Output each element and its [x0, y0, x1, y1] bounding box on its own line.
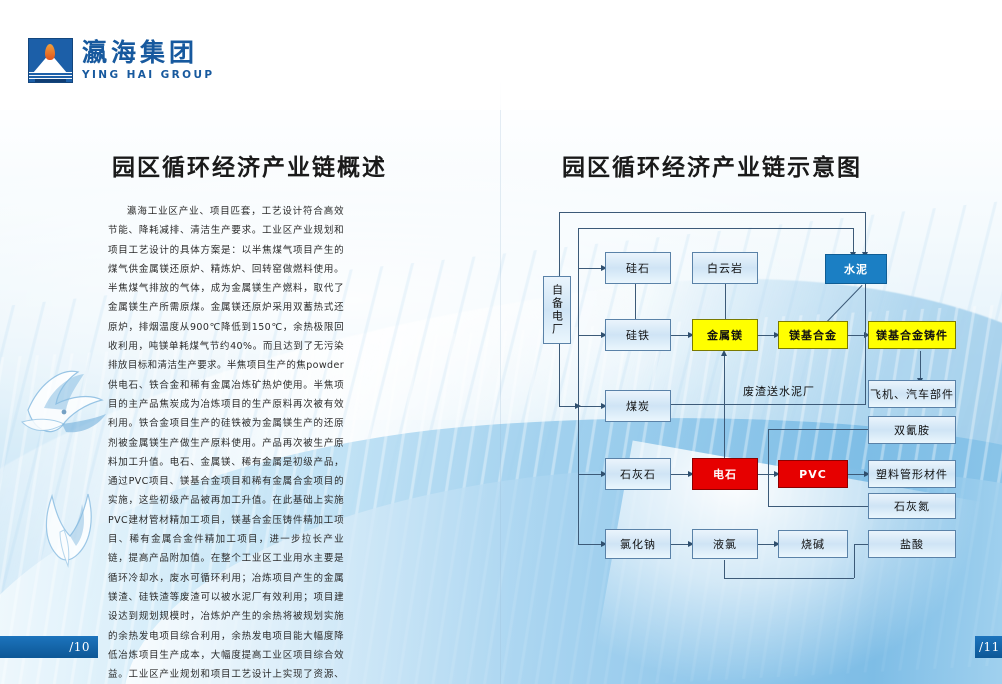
node-label: 硅石 — [626, 260, 650, 276]
node-dolomite[interactable]: 白云岩 — [692, 252, 758, 284]
node-mg-alloy-casting[interactable]: 镁基合金铸件 — [868, 321, 956, 349]
connector — [920, 351, 921, 380]
connector — [854, 544, 855, 578]
page-number-right: /11 — [979, 640, 1000, 654]
mountain-flame-logo-icon — [28, 38, 73, 83]
dove-icon-lower — [22, 470, 118, 578]
connector — [578, 228, 853, 229]
dove-icon-upper — [6, 352, 124, 450]
node-label: 镁基合金铸件 — [876, 327, 948, 343]
logo-name-cn: 瀛海集团 — [82, 40, 215, 65]
node-silica[interactable]: 硅石 — [605, 252, 671, 284]
node-power-plant[interactable]: 自备电厂 — [543, 276, 571, 344]
connector — [865, 284, 866, 404]
node-label: PVC — [799, 468, 827, 481]
connector — [853, 228, 854, 254]
label-waste-slag-to-cement: 废渣送水泥厂 — [743, 383, 815, 399]
node-label: 白云岩 — [707, 260, 743, 276]
connector — [724, 560, 725, 578]
node-calcium-cyanamide[interactable]: 石灰氮 — [868, 493, 956, 519]
logo-name-en: YING HAI GROUP — [82, 70, 215, 81]
left-page-body: 瀛海工业区产业、项目匹套，工艺设计符合高效节能、降耗减排、清洁生产要求。工业区产… — [108, 202, 344, 684]
connector — [724, 356, 725, 404]
node-limestone[interactable]: 石灰石 — [605, 458, 671, 490]
node-label: 塑料管形材件 — [876, 466, 948, 482]
connector — [670, 404, 866, 405]
connector — [825, 285, 863, 324]
page-number-bar-left: /10 — [0, 636, 98, 658]
node-label: 盐酸 — [900, 536, 924, 552]
node-label: 双氰胺 — [894, 422, 930, 438]
connector — [865, 212, 866, 254]
node-label: 金属镁 — [707, 327, 743, 343]
node-aircraft-auto-parts[interactable]: 飞机、汽车部件 — [868, 380, 956, 408]
connector — [768, 429, 868, 430]
body-paragraph: 瀛海工业区产业、项目匹套，工艺设计符合高效节能、降耗减排、清洁生产要求。工业区产… — [108, 202, 344, 684]
connector — [768, 429, 769, 506]
right-page-title: 园区循环经济产业链示意图 — [562, 148, 862, 182]
node-plastic-pipe-parts[interactable]: 塑料管形材件 — [868, 460, 956, 488]
page-number-left: /10 — [69, 640, 90, 654]
connector — [768, 506, 868, 507]
node-pvc[interactable]: PVC — [778, 460, 848, 488]
node-label: 石灰氮 — [894, 498, 930, 514]
node-calcium-carbide[interactable]: 电石 — [692, 458, 758, 490]
connector — [578, 228, 579, 544]
node-label: 电石 — [713, 466, 737, 482]
node-dicyandiamide[interactable]: 双氰胺 — [868, 416, 956, 444]
brochure-spread: 瀛海集团 YING HAI GROUP 园区循环经济产业链概述 园区循环经济产业… — [0, 0, 1002, 684]
connector — [854, 544, 868, 545]
node-liquid-chlorine[interactable]: 液氯 — [692, 529, 758, 559]
connector — [559, 212, 865, 213]
node-label: 硅铁 — [626, 327, 650, 343]
node-mg-alloy[interactable]: 镁基合金 — [778, 321, 848, 349]
node-label: 飞机、汽车部件 — [870, 386, 954, 402]
company-logo: 瀛海集团 YING HAI GROUP — [28, 38, 215, 83]
industrial-chain-flow-diagram: 自备电厂 硅石 白云岩 水泥 硅铁 金属镁 镁基合金 镁基合金铸件 飞机、汽车部… — [535, 190, 1002, 570]
node-coal[interactable]: 煤炭 — [605, 390, 671, 422]
connector — [724, 578, 854, 579]
node-hydrochloric-acid[interactable]: 盐酸 — [868, 530, 956, 558]
node-cement[interactable]: 水泥 — [825, 254, 887, 284]
node-ferrosilicon[interactable]: 硅铁 — [605, 319, 671, 351]
node-label: 液氯 — [713, 536, 737, 552]
node-label: 氯化钠 — [620, 536, 656, 552]
page-number-bar-right: /11 — [975, 636, 1002, 658]
node-label: 烧碱 — [801, 536, 825, 552]
node-label: 水泥 — [844, 261, 868, 277]
node-caustic-soda[interactable]: 烧碱 — [778, 530, 848, 558]
node-sodium-chloride[interactable]: 氯化钠 — [605, 529, 671, 559]
node-label: 镁基合金 — [789, 327, 837, 343]
node-label: 自备电厂 — [552, 284, 563, 336]
node-label: 煤炭 — [626, 398, 650, 414]
node-label: 石灰石 — [620, 466, 656, 482]
left-page-title: 园区循环经济产业链概述 — [112, 148, 387, 182]
node-magnesium-metal[interactable]: 金属镁 — [692, 319, 758, 351]
